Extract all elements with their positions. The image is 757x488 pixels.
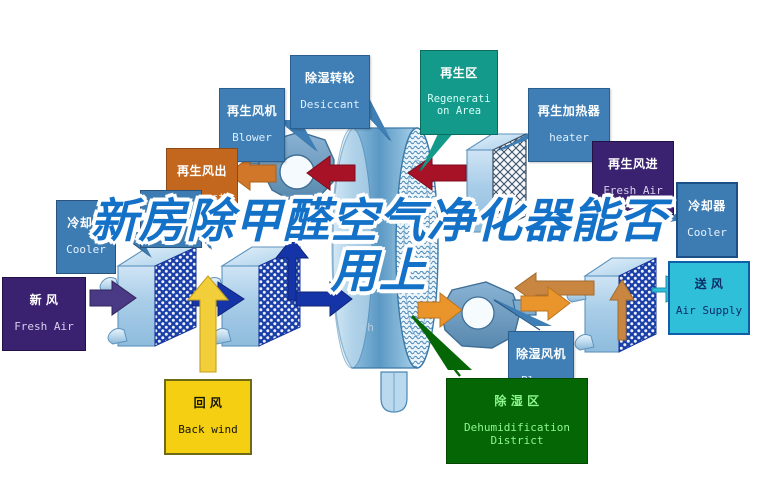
label-regen-fresh-air-en: Fresh Air — [595, 185, 671, 197]
label-regen-blower-en: Blower — [222, 132, 282, 144]
label-cooler-left-2-cn: 冷却器 — [143, 208, 199, 221]
callout-leaders — [126, 98, 700, 376]
process-arrow-1 — [192, 282, 244, 316]
cooler-coil-2 — [204, 247, 300, 346]
label-air-supply: 送 风 Air Supply — [668, 261, 750, 335]
label-back-wind: 回 风 Back wind — [164, 379, 252, 455]
label-air-supply-en: Air Supply — [672, 305, 746, 317]
label-cooler-right-cn: 冷却器 — [680, 200, 734, 213]
desiccant-rotor-wheel — [332, 128, 438, 412]
cooler-coil-3 — [567, 258, 656, 352]
label-fresh-air-in-en: Fresh Air — [5, 321, 83, 333]
label-desiccant: 除湿转轮 Desiccant — [290, 55, 370, 129]
regen-supply-arrow — [515, 273, 594, 303]
label-dehum-district-en: Dehumidification District — [449, 422, 585, 447]
label-cooler-left-1-cn: 冷却器 — [59, 217, 113, 230]
label-dehum-district-cn: 除 湿 区 — [449, 395, 585, 408]
label-dehumidification-district: 除 湿 区 Dehumidification District — [446, 378, 588, 464]
label-cooler-right-en: Cooler — [680, 227, 734, 239]
label-regeneration-area-en: Regenerati on Area — [423, 94, 495, 118]
label-back-wind-cn: 回 风 — [168, 397, 248, 410]
regeneration-heater-coil — [467, 134, 526, 232]
label-regen-fresh-air: 再生风进 Fresh Air — [592, 141, 674, 215]
label-cooler-right: 冷却器 Cooler — [676, 182, 738, 258]
label-regeneration-area-cn: 再生区 — [423, 67, 495, 80]
regen-intake-arrow — [610, 280, 634, 340]
process-up-arrow — [276, 238, 308, 300]
label-cooler-left-1-en: Cooler — [59, 244, 113, 256]
label-desiccant-cn: 除湿转轮 — [293, 72, 367, 85]
rotor-watermark: xh — [360, 322, 376, 334]
label-air-supply-cn: 送 风 — [672, 278, 746, 291]
dry-air-arrow-1 — [418, 293, 462, 327]
label-back-wind-en: Back wind — [168, 424, 248, 436]
label-cooler-left-1: 冷却器 Cooler — [56, 200, 116, 274]
back-wind-arrow — [188, 276, 228, 372]
condensate-drain — [381, 372, 407, 412]
label-cooler-left-2: 冷却器 — [140, 190, 202, 248]
fresh-air-arrow — [90, 281, 136, 315]
label-desiccant-en: Desiccant — [293, 99, 367, 111]
label-regen-blower-cn: 再生风机 — [222, 105, 282, 118]
process-arrow-2 — [296, 282, 352, 316]
regen-hot-arrow-2 — [307, 156, 355, 190]
label-regen-heater-cn: 再生加热器 — [531, 105, 607, 118]
label-dehum-blower-cn: 除湿风机 — [511, 348, 571, 361]
label-regeneration-area: 再生区 Regenerati on Area — [420, 50, 498, 135]
label-exhaust-cn: 再生风出 — [169, 165, 235, 178]
dry-air-arrow-2 — [521, 287, 570, 320]
label-regen-fresh-air-cn: 再生风进 — [595, 158, 671, 171]
regen-hot-arrow-1 — [408, 156, 466, 190]
label-fresh-air-in-cn: 新 风 — [5, 294, 83, 307]
callout-pointers — [120, 92, 704, 370]
label-fresh-air-in: 新 风 Fresh Air — [2, 277, 86, 351]
diagram-canvas: xh 除湿转轮 Desiccant 再生风机 Blower 再生风出 Exhau… — [0, 0, 757, 488]
